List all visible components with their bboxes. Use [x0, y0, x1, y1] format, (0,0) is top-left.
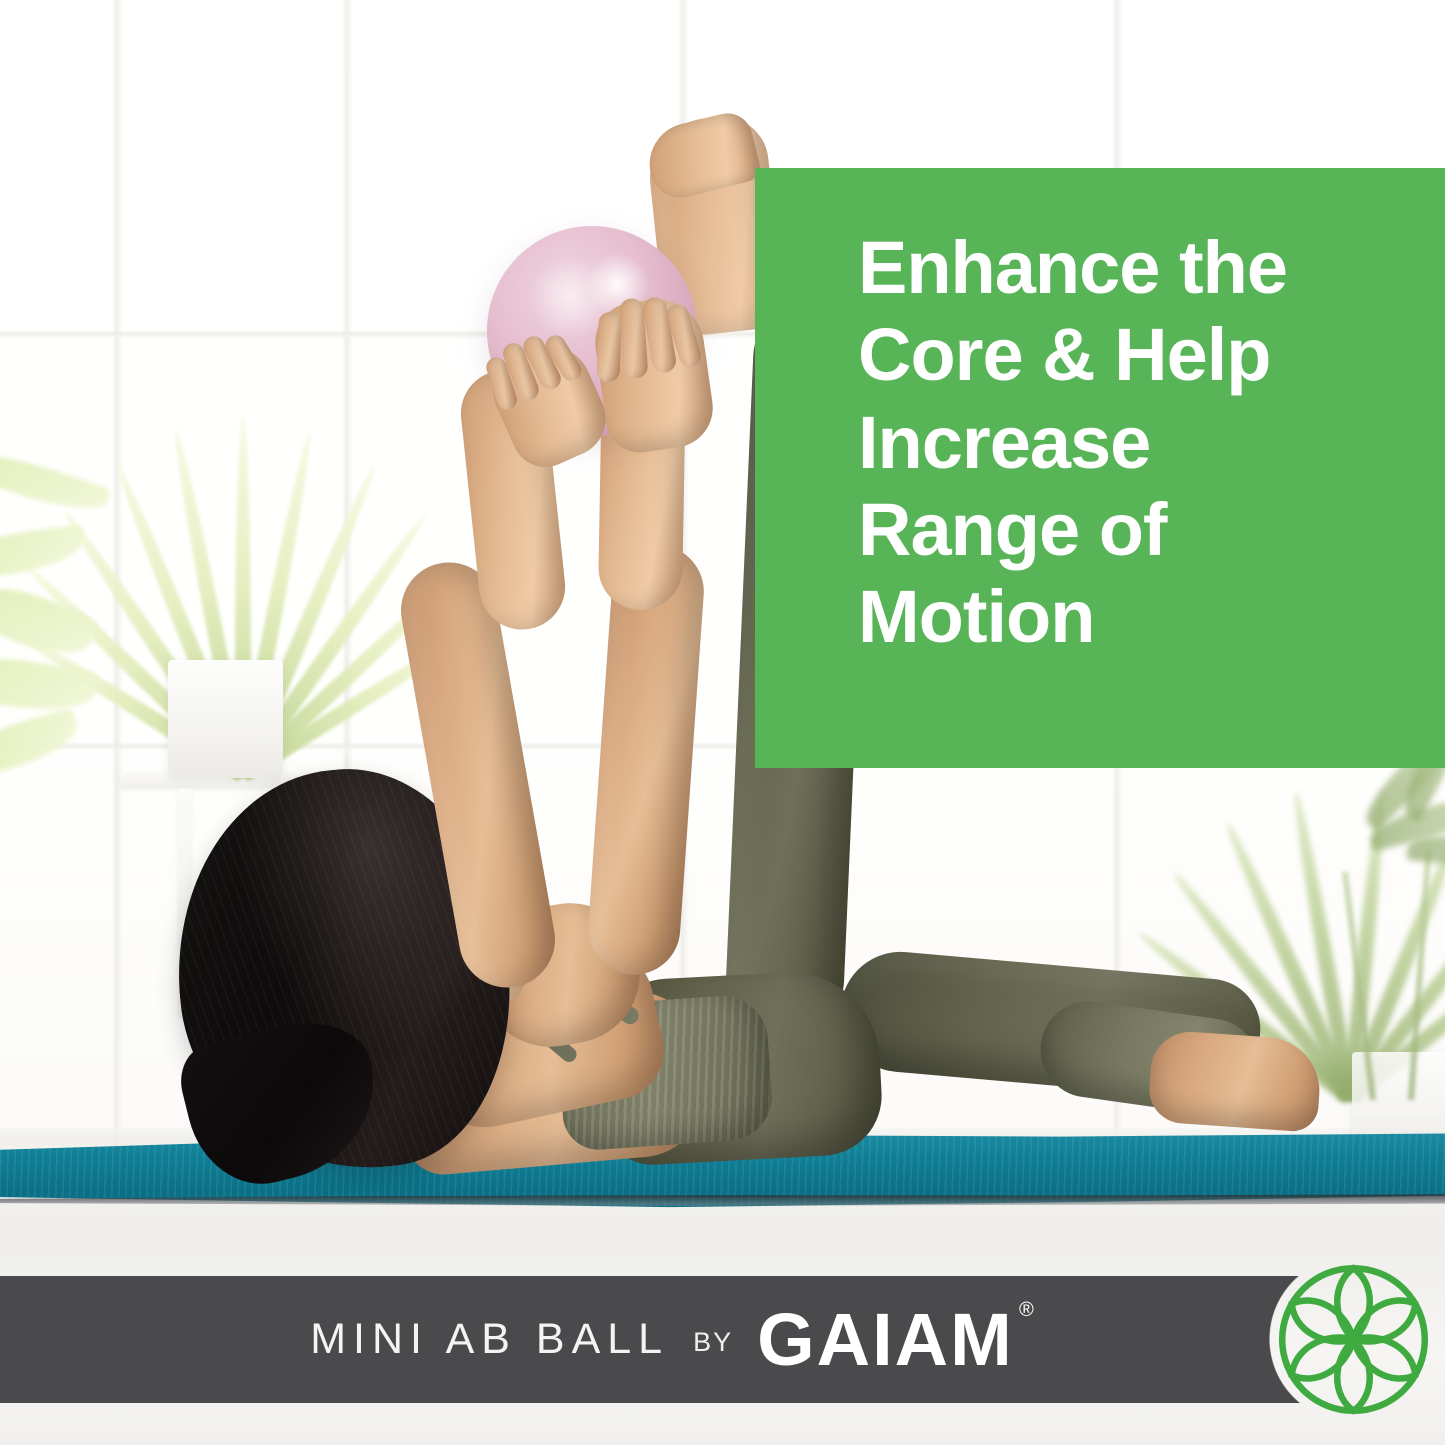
plant-leaf [0, 707, 83, 780]
product-name-label: MINI AB BALL [310, 1315, 669, 1364]
brand-bar-content: MINI AB BALL BY GAIAM ® [0, 1276, 1352, 1403]
palm-plant-right [1330, 800, 1445, 1100]
plant-leaf [0, 524, 87, 582]
hanging-fronds-left [0, 455, 190, 805]
gaiam-wordmark: GAIAM ® [757, 1297, 1014, 1382]
finger [596, 312, 621, 383]
product-marketing-image: GAIAM Enhance the Core & Help Increase R… [0, 0, 1445, 1445]
gaiam-flower-of-life-icon [1276, 1262, 1431, 1417]
palm-stem [1408, 850, 1431, 1100]
plant-leaf [0, 572, 100, 670]
plant-leaf [0, 443, 112, 522]
plant-leaf [0, 647, 99, 720]
gaiam-wordmark-text: GAIAM [757, 1298, 1014, 1381]
palm-stem [1342, 871, 1376, 1100]
registered-trademark-symbol: ® [1019, 1299, 1036, 1322]
by-label: BY [693, 1327, 733, 1358]
headline-text: Enhance the Core & Help Increase Range o… [858, 224, 1398, 661]
